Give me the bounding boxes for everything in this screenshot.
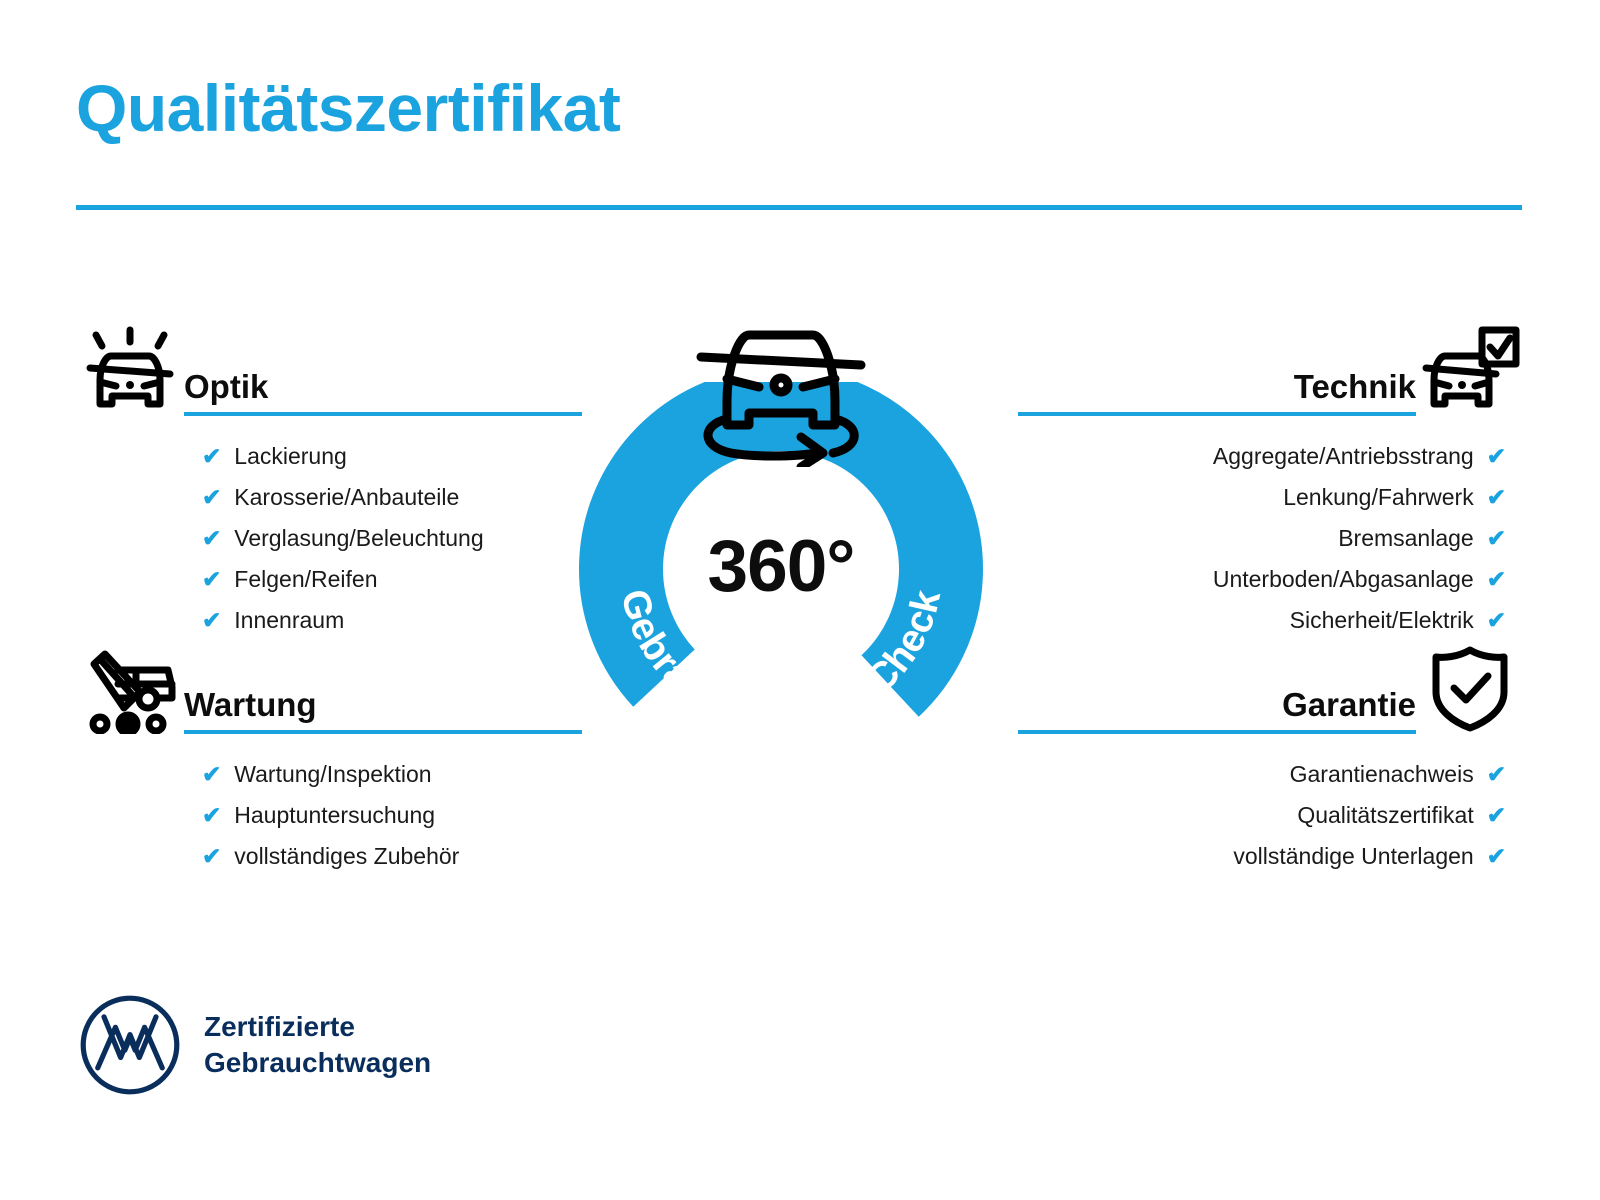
check-icon: ✔ (202, 763, 221, 786)
section-wartung-rule (184, 730, 582, 734)
list-item: ✔ Qualitätszertifikat (1018, 795, 1506, 836)
section-optik-title: Optik (184, 368, 582, 412)
list-item-label: Innenraum (234, 609, 344, 632)
360-check-badge: Gebrauchtwagen-Check 360° (571, 307, 991, 757)
list-item: ✔ Bremsanlage (1018, 518, 1506, 559)
car-polish-icon (76, 322, 184, 418)
check-icon: ✔ (202, 568, 221, 591)
check-icon: ✔ (1487, 804, 1506, 827)
list-item-label: Karosserie/Anbauteile (234, 486, 459, 509)
title-divider (76, 205, 1522, 210)
technik-check-list: ✔ Aggregate/Antriebsstrang ✔ Lenkung/Fah… (1018, 418, 1524, 641)
check-icon: ✔ (1487, 486, 1506, 509)
car-checkbox-icon (1416, 322, 1524, 418)
shield-check-icon (1416, 640, 1524, 736)
check-icon: ✔ (1487, 445, 1506, 468)
list-item: ✔ Felgen/Reifen (202, 559, 582, 600)
list-item: ✔ Innenraum (202, 600, 582, 641)
section-garantie-title-wrap: Garantie (1018, 686, 1416, 736)
list-item-label: Unterboden/Abgasanlage (1213, 568, 1474, 591)
list-item-label: Bremsanlage (1338, 527, 1474, 550)
check-icon: ✔ (1487, 845, 1506, 868)
section-optik-title-wrap: Optik (184, 368, 582, 418)
check-icon: ✔ (202, 486, 221, 509)
list-item: ✔ Sicherheit/Elektrik (1018, 600, 1506, 641)
section-technik-rule (1018, 412, 1416, 416)
list-item: ✔ Unterboden/Abgasanlage (1018, 559, 1506, 600)
section-technik-title-wrap: Technik (1018, 368, 1416, 418)
list-item-label: Wartung/Inspektion (234, 763, 431, 786)
list-item-label: Verglasung/Beleuchtung (234, 527, 483, 550)
list-item-label: vollständige Unterlagen (1233, 845, 1473, 868)
section-technik-header: Technik (1018, 318, 1524, 418)
list-item-label: Hauptuntersuchung (234, 804, 435, 827)
list-item: ✔ vollständiges Zubehör (202, 836, 582, 877)
list-item: ✔ vollständige Unterlagen (1018, 836, 1506, 877)
section-optik-rule (184, 412, 582, 416)
check-icon: ✔ (202, 845, 221, 868)
list-item-label: Lackierung (234, 445, 347, 468)
list-item-label: vollständiges Zubehör (234, 845, 459, 868)
check-icon: ✔ (1487, 609, 1506, 632)
list-item: ✔ Verglasung/Beleuchtung (202, 518, 582, 559)
list-item-label: Felgen/Reifen (234, 568, 377, 591)
car-front-rotate-icon (683, 307, 879, 467)
check-icon: ✔ (202, 804, 221, 827)
section-wartung-header: Wartung (76, 636, 582, 736)
list-item-label: Aggregate/Antriebsstrang (1213, 445, 1474, 468)
check-icon: ✔ (1487, 527, 1506, 550)
list-item: ✔ Karosserie/Anbauteile (202, 477, 582, 518)
badge-center-label: 360° (571, 525, 991, 608)
certificate-page: Qualitätszertifikat Optik (0, 0, 1600, 1200)
brand-footer: Zertifizierte Gebrauchtwagen (78, 993, 431, 1097)
section-garantie-rule (1018, 730, 1416, 734)
list-item-label: Qualitätszertifikat (1297, 804, 1473, 827)
section-garantie-header: Garantie (1018, 636, 1524, 736)
brand-text-line2: Gebrauchtwagen (204, 1045, 431, 1081)
garantie-check-list: ✔ Garantienachweis ✔ Qualitätszertifikat… (1018, 736, 1524, 877)
check-icon: ✔ (202, 609, 221, 632)
list-item: ✔ Garantienachweis (1018, 754, 1506, 795)
volkswagen-logo (78, 993, 182, 1097)
brand-text: Zertifizierte Gebrauchtwagen (204, 1009, 431, 1082)
page-title: Qualitätszertifikat (76, 74, 620, 143)
list-item: ✔ Wartung/Inspektion (202, 754, 582, 795)
section-garantie: Garantie ✔ Garantienachweis ✔ Qualitätsz… (1018, 636, 1524, 877)
check-icon: ✔ (1487, 568, 1506, 591)
optik-check-list: ✔ Lackierung ✔ Karosserie/Anbauteile ✔ V… (76, 418, 582, 641)
brand-text-line1: Zertifizierte (204, 1009, 431, 1045)
section-garantie-title: Garantie (1018, 686, 1416, 730)
pencil-car-service-icon (76, 640, 184, 736)
list-item: ✔ Aggregate/Antriebsstrang (1018, 436, 1506, 477)
section-technik: Technik ✔ Aggregate/Antriebsstrang ✔ Len… (1018, 318, 1524, 641)
section-wartung: Wartung ✔ Wartung/Inspektion ✔ Hauptunte… (76, 636, 582, 877)
list-item-label: Lenkung/Fahrwerk (1283, 486, 1474, 509)
section-optik-header: Optik (76, 318, 582, 418)
check-icon: ✔ (202, 527, 221, 550)
section-technik-title: Technik (1018, 368, 1416, 412)
list-item: ✔ Lenkung/Fahrwerk (1018, 477, 1506, 518)
list-item-label: Sicherheit/Elektrik (1290, 609, 1474, 632)
list-item: ✔ Hauptuntersuchung (202, 795, 582, 836)
section-wartung-title: Wartung (184, 686, 582, 730)
list-item-label: Garantienachweis (1290, 763, 1474, 786)
check-icon: ✔ (202, 445, 221, 468)
section-optik: Optik ✔ Lackierung ✔ Karosserie/Anbautei… (76, 318, 582, 641)
wartung-check-list: ✔ Wartung/Inspektion ✔ Hauptuntersuchung… (76, 736, 582, 877)
section-wartung-title-wrap: Wartung (184, 686, 582, 736)
list-item: ✔ Lackierung (202, 436, 582, 477)
check-icon: ✔ (1487, 763, 1506, 786)
